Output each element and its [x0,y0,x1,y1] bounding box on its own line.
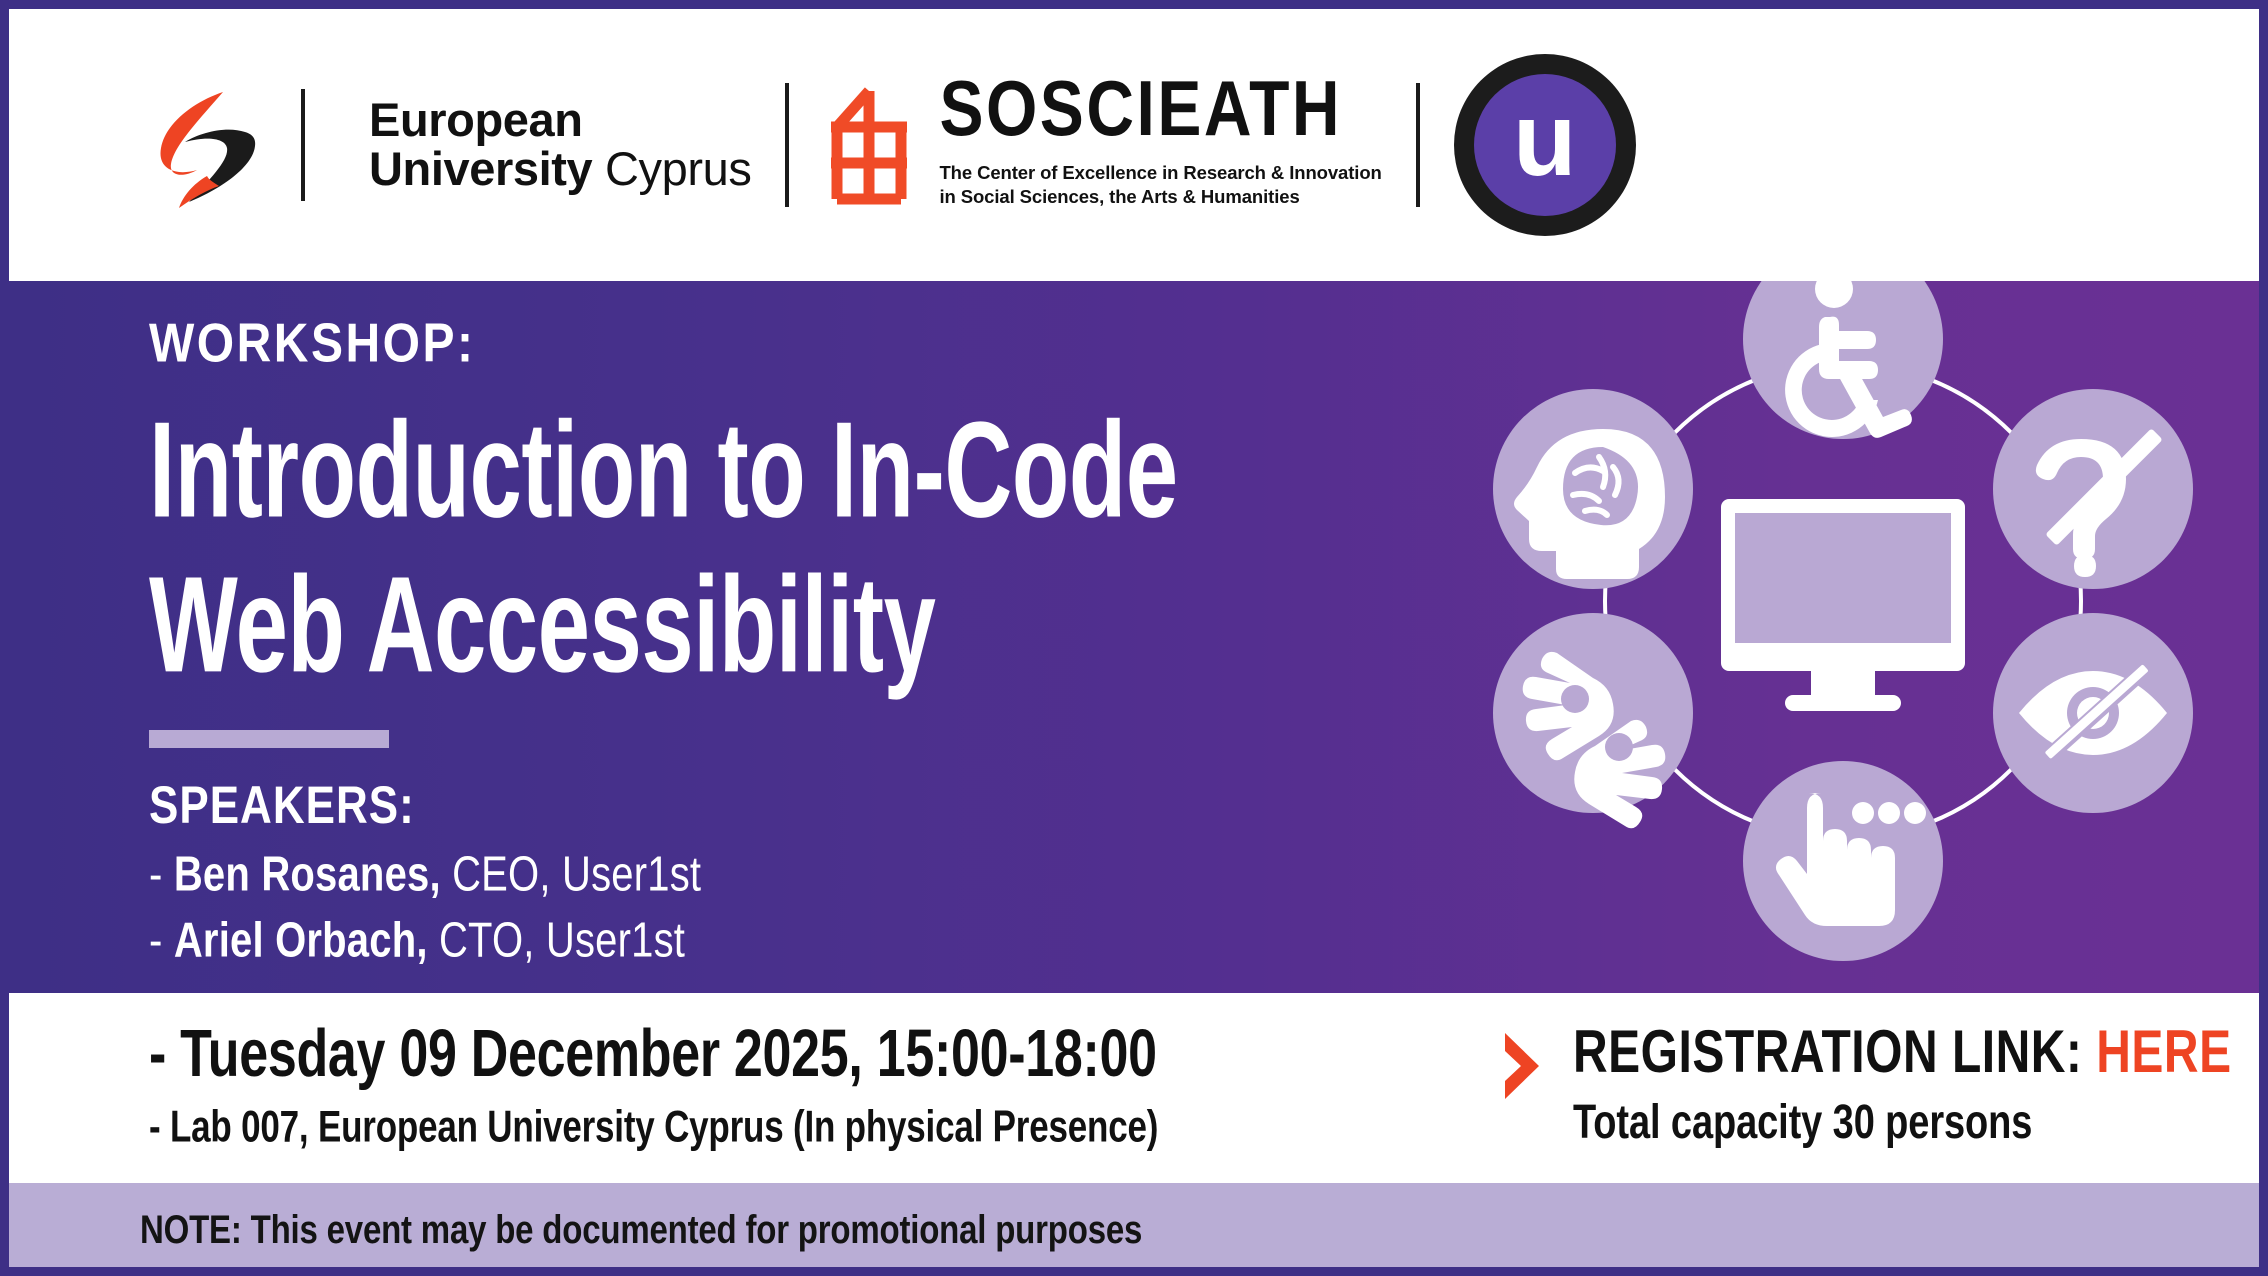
cognitive-brain-head-icon [1493,389,1693,589]
header-logo-band: European University Cyprus [9,9,2259,281]
logo-european-university-cyprus: European University Cyprus [149,80,751,210]
euc-cyprus: Cyprus [605,142,751,195]
promotional-note: NOTE: This event may be documented for p… [140,1209,1142,1249]
accessibility-circle-graphic [1453,281,2233,961]
euc-swoosh-icon [149,80,267,210]
workshop-poster: European University Cyprus [0,0,2268,1276]
info-band: - Tuesday 09 December 2025, 15:00-18:00 … [9,993,2259,1183]
user1st-letter: u [1474,74,1616,216]
registration-block[interactable]: REGISTRATION LINK: HERE Total capacity 3… [1499,1023,2232,1137]
wheelchair-accessibility-icon [1743,281,1943,439]
sign-language-hands-icon [1493,613,1693,828]
workshop-eyebrow: WORKSHOP: [149,317,1409,372]
euc-line-2: University Cyprus [369,145,751,194]
soscieath-tagline-line-1: The Center of Excellence in Research & I… [939,161,1381,185]
logo-divider-1 [301,89,305,201]
title-underline-rule [149,730,389,748]
speaker-role: CEO, User1st [441,847,701,901]
total-capacity: Total capacity 30 persons [1573,1099,2232,1147]
chevron-right-icon [1499,1029,1545,1103]
page-title: Introduction to In-Code Web Accessibilit… [149,393,1384,704]
euc-line-1: European [369,96,751,145]
event-date: - Tuesday 09 December 2025, 15:00-18:00 [149,1021,1158,1088]
soscieath-tagline-line-2: in Social Sciences, the Arts & Humanitie… [939,185,1381,209]
event-details: - Tuesday 09 December 2025, 15:00-18:00 … [149,1021,1158,1140]
low-vision-eye-icon [1993,613,2193,813]
logo-user1st: u [1454,54,1636,236]
monitor-icon [1721,499,1965,711]
soscieath-wordmark: SOSCIEATH The Center of Excellence in Re… [939,81,1381,210]
speaker-item: - Ariel Orbach, CTO, User1st [149,916,1409,965]
note-band: NOTE: This event may be documented for p… [0,1183,2268,1276]
event-location: - Lab 007, European University Cyprus (I… [149,1105,1158,1149]
speaker-role: CTO, User1st [428,913,685,967]
soscieath-grid-icon [823,81,915,209]
hearing-impaired-ear-icon [1993,389,2193,589]
registration-lines: REGISTRATION LINK: HERE Total capacity 3… [1573,1023,2232,1137]
speakers-label: SPEAKERS: [149,780,1409,833]
touch-hand-icon [1743,761,1943,961]
speaker-item: - Ben Rosanes, CEO, User1st [149,850,1409,899]
speaker-name: Ariel Orbach, [174,913,428,967]
speaker-name: Ben Rosanes, [174,847,441,901]
hero-section: WORKSHOP: Introduction to In-Code Web Ac… [9,281,2259,993]
soscieath-tagline: The Center of Excellence in Research & I… [939,161,1381,210]
logo-row: European University Cyprus [149,54,1636,236]
euc-university: University [369,142,592,195]
speaker-bullet: - [149,913,174,967]
hero-text-column: WORKSHOP: Introduction to In-Code Web Ac… [149,317,1409,956]
registration-link-row[interactable]: REGISTRATION LINK: HERE [1573,1023,2232,1083]
euc-wordmark: European University Cyprus [369,96,751,194]
soscieath-title: SOSCIEATH [939,69,1381,147]
logo-divider-2 [785,83,789,207]
speaker-bullet: - [149,847,174,901]
logo-soscieath: SOSCIEATH The Center of Excellence in Re… [823,81,1381,210]
registration-here-link[interactable]: HERE [2096,1019,2231,1086]
registration-label: REGISTRATION LINK: [1573,1019,2096,1086]
logo-divider-3 [1416,83,1420,207]
